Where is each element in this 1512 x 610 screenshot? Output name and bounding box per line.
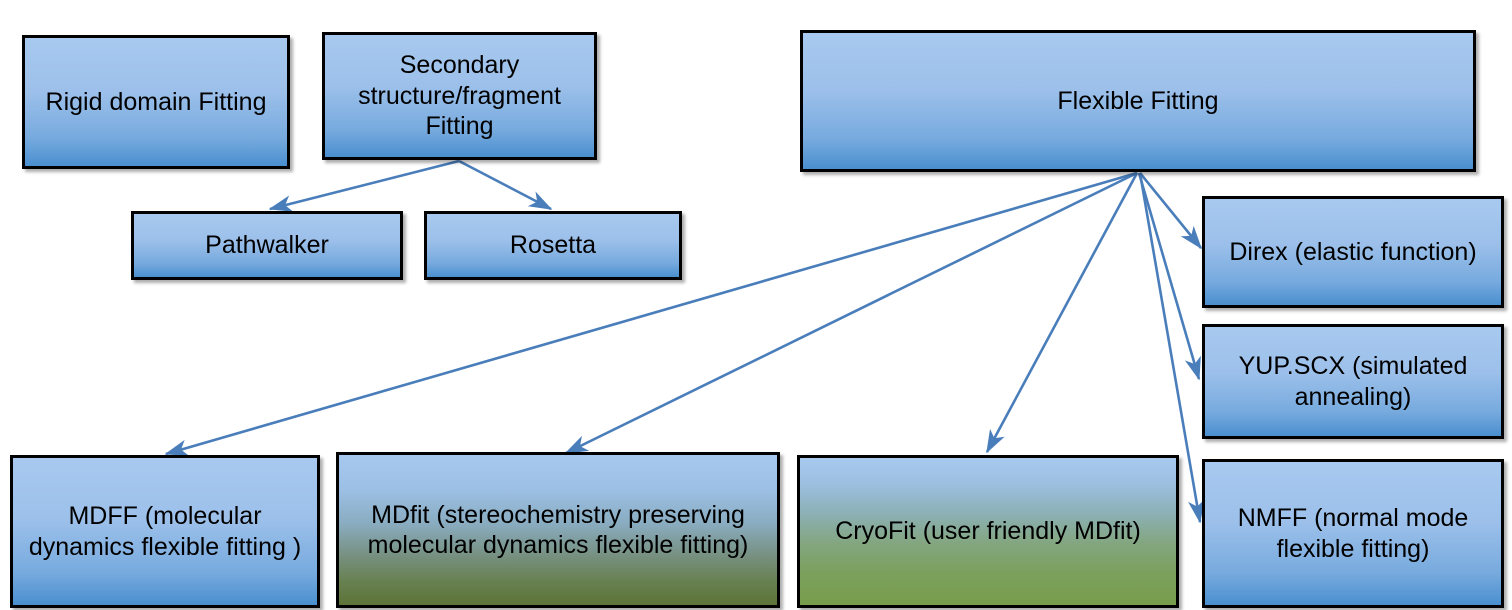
arrow-secondary-to-rosetta bbox=[459, 161, 551, 209]
node-label-yup-scx: YUP.SCX (simulated annealing) bbox=[1215, 351, 1491, 412]
node-label-pathwalker: Pathwalker bbox=[144, 230, 390, 261]
node-nmff[interactable]: NMFF (normal mode flexible fitting) bbox=[1202, 459, 1504, 608]
node-label-mdfit: MDfit (stereochemistry preserving molecu… bbox=[349, 500, 767, 561]
node-yup-scx[interactable]: YUP.SCX (simulated annealing) bbox=[1202, 324, 1504, 439]
node-label-rigid-domain-fitting: Rigid domain Fitting bbox=[35, 87, 277, 118]
node-direx[interactable]: Direx (elastic function) bbox=[1202, 196, 1504, 308]
diagram-canvas: Rigid domain FittingSecondary structure/… bbox=[0, 0, 1512, 610]
node-label-rosetta: Rosetta bbox=[437, 230, 669, 261]
arrow-flexible-to-direx bbox=[1140, 173, 1201, 248]
node-label-mdff: MDFF (molecular dynamics flexible fittin… bbox=[23, 501, 307, 562]
node-cryofit[interactable]: CryoFit (user friendly MDfit) bbox=[797, 455, 1179, 608]
node-mdfit[interactable]: MDfit (stereochemistry preserving molecu… bbox=[336, 452, 780, 608]
arrow-flexible-to-cryofit bbox=[987, 173, 1137, 452]
node-secondary-structure-fragment-fitting[interactable]: Secondary structure/fragment Fitting bbox=[322, 32, 597, 160]
node-rosetta[interactable]: Rosetta bbox=[424, 211, 682, 280]
node-flexible-fitting[interactable]: Flexible Fitting bbox=[800, 30, 1476, 172]
node-mdff[interactable]: MDFF (molecular dynamics flexible fittin… bbox=[10, 455, 320, 608]
node-label-nmff: NMFF (normal mode flexible fitting) bbox=[1215, 503, 1491, 564]
node-label-secondary-structure-fragment-fitting: Secondary structure/fragment Fitting bbox=[335, 50, 584, 142]
arrow-secondary-to-pathwalker bbox=[270, 161, 459, 209]
node-label-flexible-fitting: Flexible Fitting bbox=[813, 86, 1463, 117]
node-label-cryofit: CryoFit (user friendly MDfit) bbox=[810, 516, 1166, 547]
node-rigid-domain-fitting[interactable]: Rigid domain Fitting bbox=[22, 35, 290, 169]
node-pathwalker[interactable]: Pathwalker bbox=[131, 211, 403, 280]
arrow-flexible-to-yupscx bbox=[1139, 173, 1199, 379]
node-label-direx: Direx (elastic function) bbox=[1215, 237, 1491, 268]
